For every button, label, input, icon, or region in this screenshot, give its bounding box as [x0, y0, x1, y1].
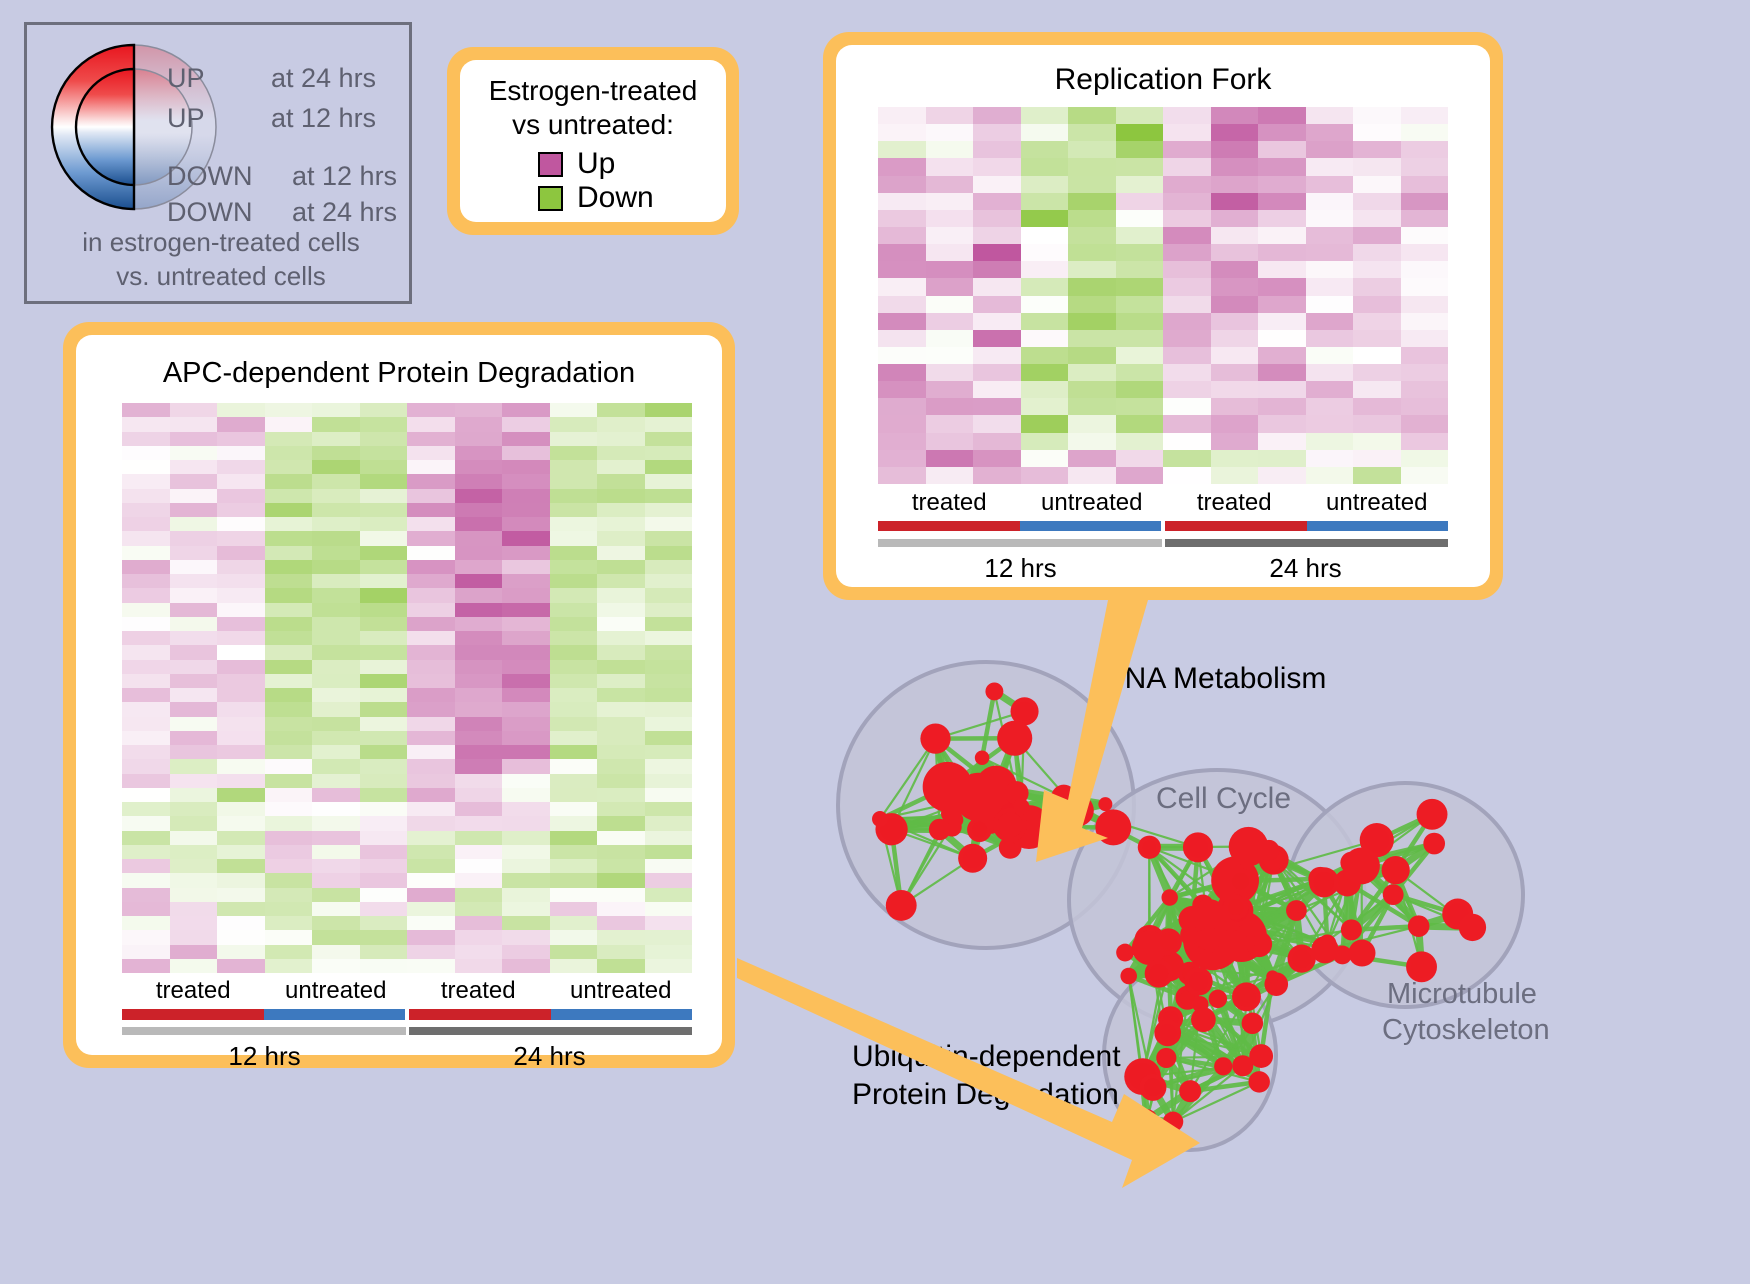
- heatmap-cell: [502, 489, 550, 503]
- heatmap-cell: [1401, 415, 1449, 432]
- heatmap-cell: [645, 403, 693, 417]
- heatmap-cell: [1163, 210, 1211, 227]
- heatmap-cell: [455, 560, 503, 574]
- heatmap-cell: [1068, 124, 1116, 141]
- heatmap-cell: [1021, 433, 1069, 450]
- heatmap-cell: [455, 645, 503, 659]
- heatmap-cell: [645, 845, 693, 859]
- heatmap-cell: [170, 446, 218, 460]
- heatmap-cell: [170, 674, 218, 688]
- heatmap-cell: [170, 546, 218, 560]
- network-label-4: Ubiquitin-dependent: [852, 1040, 1121, 1074]
- heatmap-cell: [878, 261, 926, 278]
- heatmap-cell: [360, 660, 408, 674]
- heatmap-cell: [973, 244, 1021, 261]
- heatmap-cell: [1021, 347, 1069, 364]
- heatmap-cell: [122, 845, 170, 859]
- heatmap-cell: [973, 107, 1021, 124]
- heatmap-cell: [360, 531, 408, 545]
- network-node: [1179, 1080, 1201, 1102]
- heatmap-cell: [550, 474, 598, 488]
- heatmap-cell: [597, 489, 645, 503]
- heatmap-cell: [360, 831, 408, 845]
- heatmap-cell: [217, 816, 265, 830]
- heatmap-cell: [1401, 330, 1449, 347]
- heatmap-cell: [455, 930, 503, 944]
- heatmap-cell: [550, 531, 598, 545]
- heatmap-cell: [1353, 415, 1401, 432]
- heatmap-cell: [407, 474, 455, 488]
- heatmap-cell: [1116, 330, 1164, 347]
- heatmap-cell: [926, 141, 974, 158]
- heatmap-cell: [1211, 330, 1259, 347]
- heatmap-cell: [1068, 433, 1116, 450]
- heatmap-cell: [360, 774, 408, 788]
- heatmap-cell: [502, 588, 550, 602]
- network-node: [1249, 1044, 1273, 1068]
- heatmap-cell: [360, 674, 408, 688]
- heatmap-cell: [265, 517, 313, 531]
- heatmap-cell: [1211, 193, 1259, 210]
- heatmap-cell: [1306, 433, 1354, 450]
- heatmap-cell: [265, 759, 313, 773]
- heatmap-cell: [170, 603, 218, 617]
- heatmap-cell: [1211, 313, 1259, 330]
- heatmap-cell: [645, 417, 693, 431]
- heatmap-cell: [407, 831, 455, 845]
- heatmap-cell: [455, 959, 503, 973]
- heatmap-cell: [122, 460, 170, 474]
- heatmap-cell: [1116, 193, 1164, 210]
- heatmap-cell: [1306, 364, 1354, 381]
- heatmap-cell: [597, 517, 645, 531]
- heatmap-cell: [1306, 398, 1354, 415]
- heatmap-cell: [312, 859, 360, 873]
- heatmap-cell: [265, 745, 313, 759]
- color-key-row-time-1: at 12 hrs: [271, 103, 376, 134]
- heatmap-cell: [312, 517, 360, 531]
- heatmap-cell: [1163, 244, 1211, 261]
- heatmap-cell: [597, 546, 645, 560]
- heatmap-cell: [122, 788, 170, 802]
- heatmap-cell: [455, 417, 503, 431]
- legend-title-line1: Estrogen-treated: [460, 74, 726, 108]
- heatmap-cell: [265, 702, 313, 716]
- heatmap-cell: [407, 688, 455, 702]
- network-diagram: DNA MetabolismCell CycleMicrotubuleCytos…: [790, 600, 1750, 1279]
- heatmap-cell: [973, 450, 1021, 467]
- heatmap-cell: [170, 959, 218, 973]
- heatmap-cell: [217, 674, 265, 688]
- heatmap-cell: [170, 660, 218, 674]
- heatmap-cell: [926, 433, 974, 450]
- heatmap-cell: [973, 398, 1021, 415]
- heatmap-cell: [122, 432, 170, 446]
- heatmap-cell: [122, 688, 170, 702]
- heatmap-cell: [360, 631, 408, 645]
- heatmap-cell: [597, 446, 645, 460]
- heatmap-cell: [360, 959, 408, 973]
- axis-time-bar-0: [878, 539, 1162, 547]
- heatmap-cell: [597, 816, 645, 830]
- heatmap-cell: [1306, 227, 1354, 244]
- heatmap-cell: [360, 802, 408, 816]
- heatmap-cell: [1068, 107, 1116, 124]
- heatmap-cell: [217, 916, 265, 930]
- axis-group-label-untreated-3: untreated: [1306, 489, 1449, 517]
- heatmap-cell: [1258, 261, 1306, 278]
- heatmap-cell: [926, 347, 974, 364]
- heatmap-cell: [597, 645, 645, 659]
- axis-time-label-1: 24 hrs: [407, 1041, 692, 1072]
- heatmap-cell: [645, 717, 693, 731]
- heatmap-cell: [407, 631, 455, 645]
- heatmap-cell: [550, 717, 598, 731]
- heatmap-cell: [122, 717, 170, 731]
- heatmap-cell: [926, 158, 974, 175]
- heatmap-apc: [122, 403, 692, 973]
- color-key-box: UP at 24 hrs UP at 12 hrs DOWN at 12 hrs…: [24, 22, 412, 304]
- network-node: [1341, 919, 1362, 940]
- heatmap-cell: [265, 660, 313, 674]
- heatmap-cell: [122, 588, 170, 602]
- heatmap-cell: [973, 227, 1021, 244]
- network-label-3: Cytoskeleton: [1382, 1014, 1550, 1047]
- heatmap-cell: [312, 845, 360, 859]
- axis-group-bar-untreated-1: [264, 1009, 406, 1020]
- heatmap-cell: [1258, 193, 1306, 210]
- heatmap-cell: [1068, 450, 1116, 467]
- heatmap-cell: [1353, 313, 1401, 330]
- heatmap-cell: [455, 489, 503, 503]
- color-key-row-time-2: at 12 hrs: [292, 161, 397, 192]
- heatmap-cell: [455, 446, 503, 460]
- heatmap-cell: [455, 688, 503, 702]
- heatmap-cell: [502, 802, 550, 816]
- heatmap-cell: [645, 531, 693, 545]
- heatmap-cell: [1163, 467, 1211, 484]
- heatmap-cell: [360, 745, 408, 759]
- heatmap-cell: [645, 831, 693, 845]
- heatmap-cell: [1163, 450, 1211, 467]
- heatmap-cell: [217, 831, 265, 845]
- heatmap-cell: [973, 467, 1021, 484]
- heatmap-cell: [1163, 381, 1211, 398]
- heatmap-cell: [502, 417, 550, 431]
- heatmap-cell: [878, 330, 926, 347]
- axis-group-label-treated-0: treated: [122, 977, 265, 1005]
- heatmap-cell: [1068, 381, 1116, 398]
- legend-label-down: Down: [577, 182, 654, 214]
- heatmap-cell: [550, 702, 598, 716]
- heatmap-cell: [265, 631, 313, 645]
- heatmap-cell: [455, 859, 503, 873]
- heatmap-cell: [265, 717, 313, 731]
- heatmap-cell: [265, 503, 313, 517]
- heatmap-cell: [1068, 313, 1116, 330]
- heatmap-cell: [1211, 244, 1259, 261]
- heatmap-cell: [217, 902, 265, 916]
- heatmap-cell: [1116, 107, 1164, 124]
- heatmap-cell: [1306, 415, 1354, 432]
- heatmap-cell: [1258, 313, 1306, 330]
- heatmap-cell: [170, 945, 218, 959]
- heatmap-cell: [122, 930, 170, 944]
- heatmap-cell: [973, 415, 1021, 432]
- axis-group-labels-replication-fork: treateduntreatedtreateduntreated: [878, 489, 1448, 517]
- heatmap-cell: [122, 945, 170, 959]
- network-node-core: [1232, 873, 1249, 890]
- network-node-core: [1066, 799, 1089, 822]
- heatmap-cell: [926, 313, 974, 330]
- heatmap-cell: [597, 802, 645, 816]
- heatmap-cell: [502, 759, 550, 773]
- heatmap-cell: [170, 417, 218, 431]
- heatmap-cell: [926, 415, 974, 432]
- heatmap-cell: [1163, 296, 1211, 313]
- heatmap-cell: [597, 674, 645, 688]
- heatmap-cell: [407, 802, 455, 816]
- heatmap-cell: [502, 688, 550, 702]
- heatmap-cell: [550, 816, 598, 830]
- heatmap-cell: [1353, 176, 1401, 193]
- heatmap-cell: [170, 432, 218, 446]
- heatmap-cell: [217, 588, 265, 602]
- heatmap-cell: [1021, 261, 1069, 278]
- heatmap-cell: [122, 560, 170, 574]
- heatmap-cell: [502, 631, 550, 645]
- heatmap-cell: [878, 450, 926, 467]
- heatmap-cell: [217, 631, 265, 645]
- heatmap-cell: [1068, 210, 1116, 227]
- heatmap-cell: [217, 859, 265, 873]
- heatmap-cell: [973, 141, 1021, 158]
- heatmap-cell: [407, 546, 455, 560]
- heatmap-cell: [455, 788, 503, 802]
- heatmap-cell: [1163, 278, 1211, 295]
- heatmap-cell: [312, 717, 360, 731]
- heatmap-cell: [407, 517, 455, 531]
- heatmap-cell: [502, 717, 550, 731]
- heatmap-cell: [645, 546, 693, 560]
- heatmap-cell: [1306, 296, 1354, 313]
- heatmap-cell: [170, 489, 218, 503]
- heatmap-cell: [1306, 210, 1354, 227]
- axis-group-label-untreated-3: untreated: [550, 977, 693, 1005]
- heatmap-cell: [1163, 347, 1211, 364]
- network-node: [1459, 914, 1486, 941]
- heatmap-cell: [597, 603, 645, 617]
- heatmap-cell: [360, 574, 408, 588]
- heatmap-cell: [1021, 141, 1069, 158]
- heatmap-cell: [645, 959, 693, 973]
- heatmap-cell: [502, 460, 550, 474]
- heatmap-cell: [407, 417, 455, 431]
- heatmap-cell: [597, 916, 645, 930]
- network-node-core: [1149, 964, 1168, 983]
- heatmap-cell: [360, 702, 408, 716]
- heatmap-cell: [122, 916, 170, 930]
- network-node-core: [1144, 1078, 1162, 1096]
- heatmap-cell: [502, 902, 550, 916]
- heatmap-cell: [550, 930, 598, 944]
- heatmap-cell: [1211, 278, 1259, 295]
- heatmap-cell: [1353, 261, 1401, 278]
- heatmap-cell: [645, 645, 693, 659]
- heatmap-cell: [1258, 347, 1306, 364]
- heatmap-cell: [550, 446, 598, 460]
- heatmap-cell: [312, 617, 360, 631]
- heatmap-cell: [645, 859, 693, 873]
- heatmap-cell: [407, 959, 455, 973]
- heatmap-cell: [265, 603, 313, 617]
- heatmap-cell: [217, 460, 265, 474]
- heatmap-cell: [1116, 398, 1164, 415]
- heatmap-cell: [265, 845, 313, 859]
- heatmap-cell: [312, 873, 360, 887]
- heatmap-cell: [502, 774, 550, 788]
- heatmap-cell: [1306, 450, 1354, 467]
- heatmap-cell: [1211, 261, 1259, 278]
- network-node-core: [1237, 987, 1257, 1007]
- heatmap-replication-fork: [878, 107, 1448, 484]
- heatmap-cell: [550, 560, 598, 574]
- network-node-core: [1411, 956, 1433, 978]
- heatmap-cell: [1401, 244, 1449, 261]
- heatmap-cell: [1211, 381, 1259, 398]
- heatmap-cell: [502, 531, 550, 545]
- axis-time-bars-replication-fork: [878, 539, 1448, 547]
- heatmap-cell: [973, 193, 1021, 210]
- heatmap-cell: [597, 873, 645, 887]
- heatmap-cell: [122, 603, 170, 617]
- heatmap-cell: [455, 759, 503, 773]
- color-key-row-label-3: DOWN: [167, 197, 252, 228]
- color-key-row-label-0: UP: [167, 63, 205, 94]
- heatmap-cell: [502, 446, 550, 460]
- heatmap-cell: [1116, 227, 1164, 244]
- heatmap-cell: [1401, 313, 1449, 330]
- heatmap-cell: [407, 888, 455, 902]
- heatmap-cell: [1306, 244, 1354, 261]
- heatmap-cell: [407, 845, 455, 859]
- heatmap-cell: [407, 489, 455, 503]
- heatmap-cell: [645, 588, 693, 602]
- heatmap-cell: [312, 745, 360, 759]
- heatmap-cell: [217, 774, 265, 788]
- heatmap-cell: [1068, 227, 1116, 244]
- network-node: [997, 721, 1032, 756]
- heatmap-cell: [926, 381, 974, 398]
- heatmap-cell: [312, 446, 360, 460]
- heatmap-cell: [597, 588, 645, 602]
- network-node: [1191, 1007, 1216, 1032]
- heatmap-cell: [122, 474, 170, 488]
- heatmap-cell: [122, 702, 170, 716]
- heatmap-cell: [1021, 364, 1069, 381]
- heatmap-cell: [878, 244, 926, 261]
- heatmap-cell: [1068, 398, 1116, 415]
- heatmap-cell: [550, 645, 598, 659]
- axis-time-label-0: 12 hrs: [878, 553, 1163, 584]
- heatmap-cell: [217, 759, 265, 773]
- heatmap-cell: [360, 888, 408, 902]
- heatmap-cell: [1163, 193, 1211, 210]
- heatmap-cell: [1353, 124, 1401, 141]
- heatmap-cell: [645, 945, 693, 959]
- heatmap-cell: [550, 831, 598, 845]
- heatmap-cell: [312, 588, 360, 602]
- heatmap-cell: [1401, 450, 1449, 467]
- heatmap-cell: [217, 446, 265, 460]
- heatmap-cell: [1258, 433, 1306, 450]
- heatmap-cell: [597, 531, 645, 545]
- heatmap-cell: [455, 945, 503, 959]
- network-node-core: [997, 812, 1022, 837]
- network-node-core: [1421, 803, 1443, 825]
- heatmap-cell: [265, 774, 313, 788]
- heatmap-cell: [1163, 313, 1211, 330]
- square-swatch-icon-down: [538, 186, 563, 211]
- heatmap-cell: [1211, 364, 1259, 381]
- heatmap-cell: [1163, 176, 1211, 193]
- heatmap-cell: [1401, 278, 1449, 295]
- heatmap-cell: [597, 902, 645, 916]
- heatmap-cell: [265, 617, 313, 631]
- heatmap-cell: [1401, 210, 1449, 227]
- heatmap-cell: [926, 244, 974, 261]
- heatmap-cell: [265, 432, 313, 446]
- heatmap-cell: [312, 603, 360, 617]
- axis-time-bar-1: [1165, 539, 1449, 547]
- heatmap-cell: [170, 774, 218, 788]
- heatmap-cell: [502, 702, 550, 716]
- heatmap-cell: [645, 460, 693, 474]
- heatmap-cell: [1163, 107, 1211, 124]
- heatmap-cell: [122, 503, 170, 517]
- heatmap-cell: [1211, 433, 1259, 450]
- heatmap-cell: [1021, 313, 1069, 330]
- heatmap-cell: [407, 531, 455, 545]
- heatmap-cell: [1306, 313, 1354, 330]
- heatmap-cell: [265, 460, 313, 474]
- heatmap-cell: [170, 631, 218, 645]
- heatmap-cell: [265, 873, 313, 887]
- heatmap-cell: [360, 717, 408, 731]
- heatmap-cell: [407, 859, 455, 873]
- heatmap-cell: [878, 398, 926, 415]
- heatmap-cell: [597, 831, 645, 845]
- heatmap-cell: [597, 959, 645, 973]
- heatmap-cell: [502, 916, 550, 930]
- heatmap-cell: [360, 546, 408, 560]
- heatmap-cell: [1401, 261, 1449, 278]
- heatmap-cell: [170, 588, 218, 602]
- heatmap-cell: [360, 489, 408, 503]
- heatmap-cell: [1163, 398, 1211, 415]
- heatmap-cell: [407, 774, 455, 788]
- axis-group-label-treated-2: treated: [407, 977, 550, 1005]
- heatmap-cell: [265, 546, 313, 560]
- heatmap-cell: [360, 560, 408, 574]
- heatmap-cell: [550, 902, 598, 916]
- heatmap-cell: [1353, 347, 1401, 364]
- heatmap-cell: [360, 788, 408, 802]
- heatmap-cell: [170, 788, 218, 802]
- heatmap-cell: [407, 945, 455, 959]
- heatmap-cell: [265, 417, 313, 431]
- network-node-core: [1228, 899, 1244, 915]
